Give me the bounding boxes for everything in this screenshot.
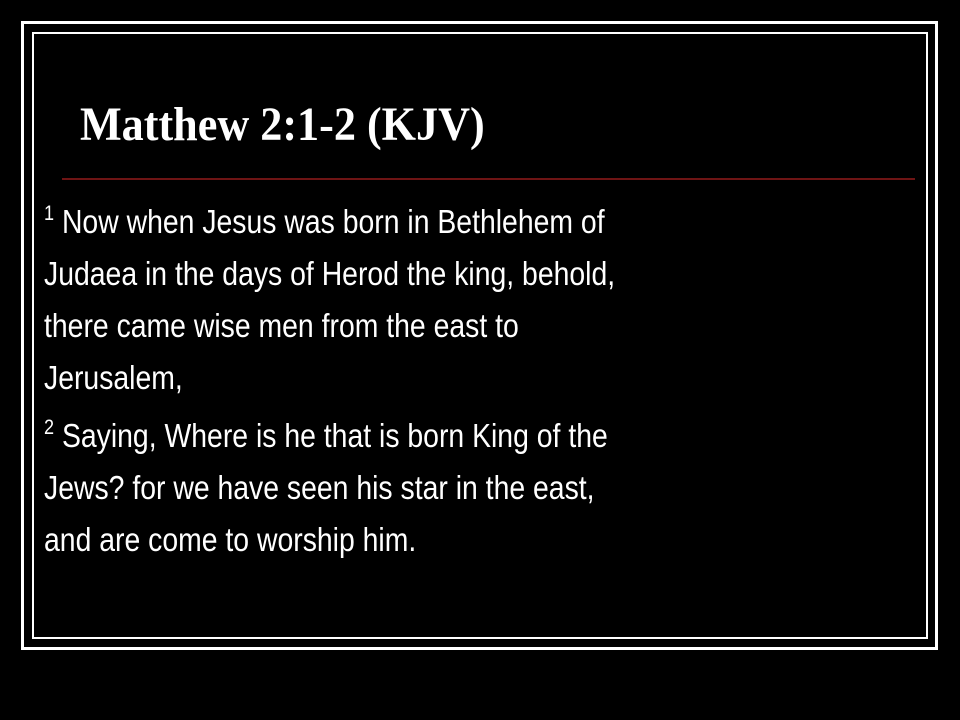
verse-paragraph: 1 Now when Jesus was born in Bethlehem o… [44, 196, 918, 404]
verse-paragraph: 2 Saying, Where is he that is born King … [44, 410, 918, 566]
title-block: Matthew 2:1-2 (KJV) [80, 96, 920, 154]
slide-canvas: Matthew 2:1-2 (KJV) 1 Now when Jesus was… [0, 0, 960, 720]
scripture-body: 1 Now when Jesus was born in Bethlehem o… [44, 196, 920, 566]
verse-text: Saying, Where is he that is born King of… [44, 417, 608, 558]
slide-title: Matthew 2:1-2 (KJV) [80, 96, 853, 154]
title-divider-rule [62, 178, 915, 180]
verse-number: 1 [44, 202, 54, 225]
verse-text: Now when Jesus was born in Bethlehem of … [44, 203, 615, 396]
verse-number: 2 [44, 416, 54, 439]
